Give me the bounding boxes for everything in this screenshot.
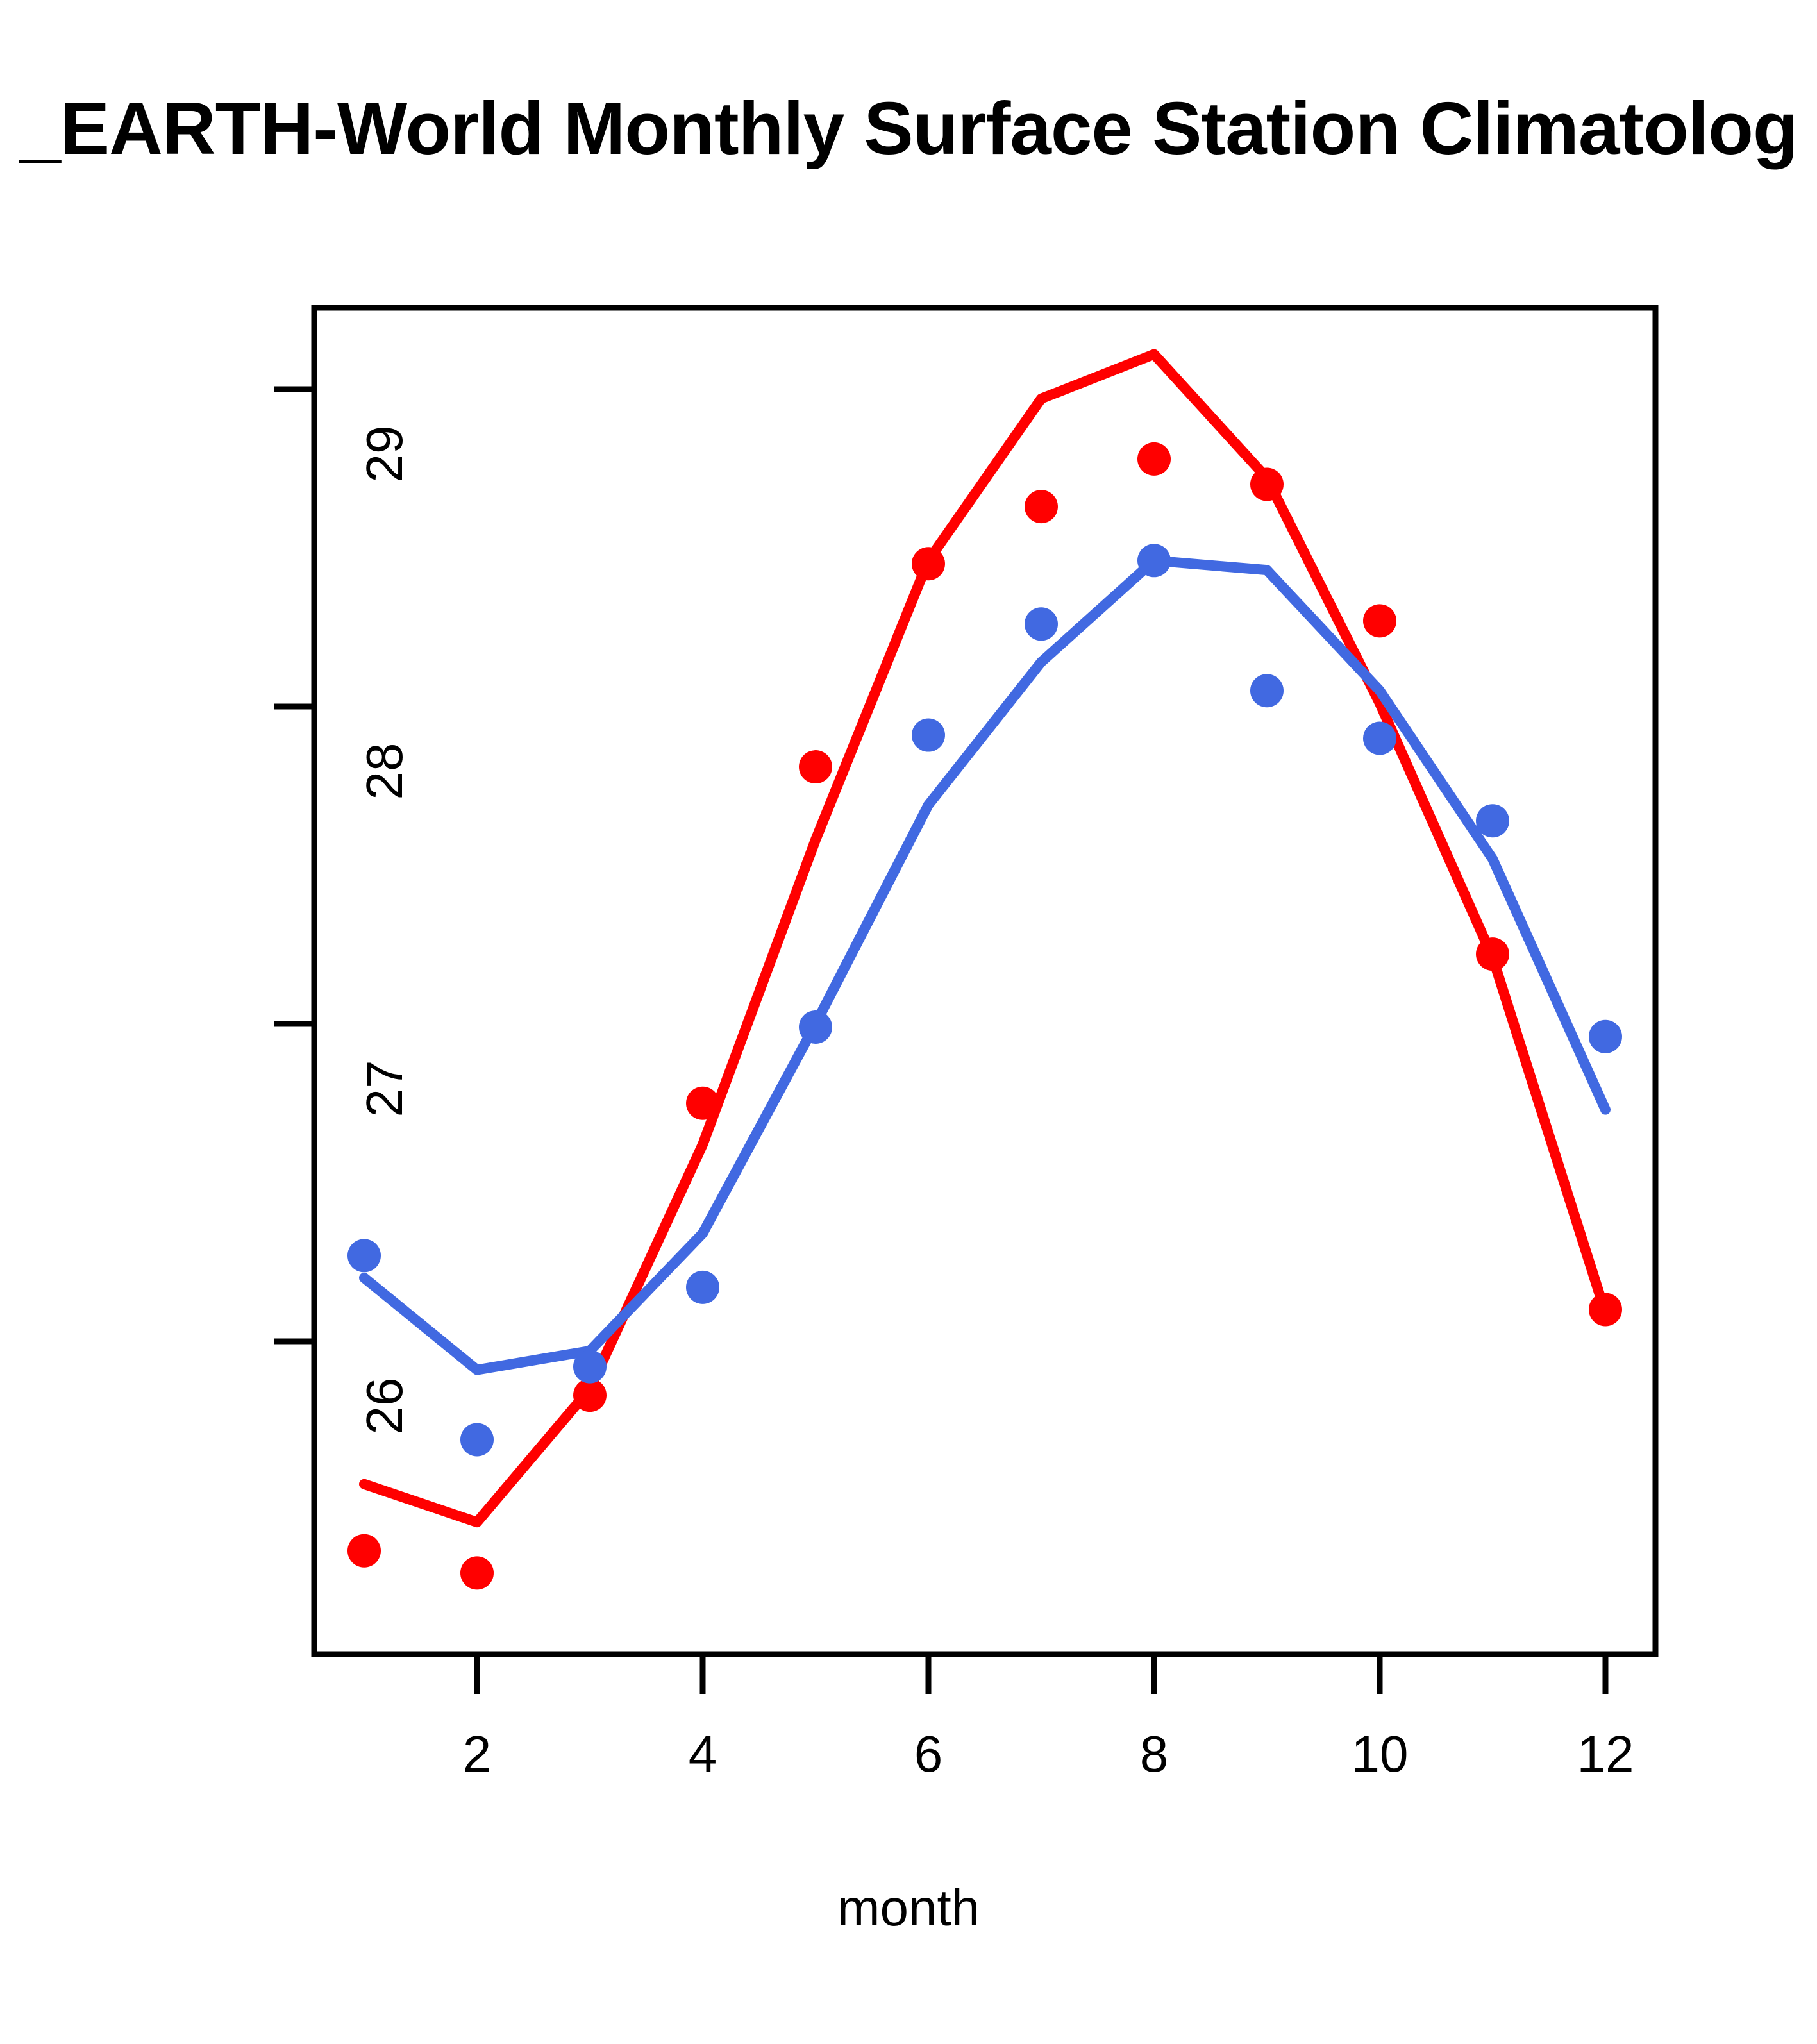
data-point <box>1589 1293 1622 1327</box>
y-tick-label: 27 <box>355 1025 414 1153</box>
data-point <box>1589 1020 1622 1053</box>
y-tick-label: 28 <box>355 707 414 835</box>
series-lines-group <box>364 355 1605 1523</box>
series-line-red-series-line <box>364 355 1605 1523</box>
data-point <box>686 1087 719 1120</box>
data-point <box>1363 604 1396 637</box>
data-point <box>1250 468 1284 501</box>
data-point <box>686 1271 719 1304</box>
series-line-blue-series-line <box>364 560 1605 1370</box>
data-point <box>1476 937 1509 971</box>
x-axis-title: month <box>0 1879 1817 1938</box>
data-point <box>1137 544 1171 577</box>
data-point <box>347 1534 381 1568</box>
data-point <box>1476 804 1509 837</box>
x-tick-label: 12 <box>1577 1725 1634 1784</box>
x-tick-label: 2 <box>463 1725 492 1784</box>
data-point <box>912 547 945 580</box>
data-point <box>912 719 945 752</box>
data-point <box>1363 722 1396 755</box>
data-point <box>799 1010 832 1044</box>
data-point <box>460 1423 494 1456</box>
x-tick-label: 6 <box>914 1725 943 1784</box>
figure-canvas: _EARTH-World Monthly Surface Station Cli… <box>0 0 1817 2044</box>
data-point <box>1137 442 1171 476</box>
data-point <box>799 750 832 783</box>
plot-frame <box>314 308 1655 1654</box>
x-tick-label: 4 <box>689 1725 717 1784</box>
y-tick-label: 26 <box>355 1342 414 1470</box>
data-point <box>1025 490 1058 523</box>
data-point <box>460 1556 494 1589</box>
data-point <box>1025 607 1058 641</box>
x-tick-label: 8 <box>1140 1725 1169 1784</box>
series-points-group <box>347 442 1622 1589</box>
data-point <box>1250 674 1284 707</box>
y-tick-label: 29 <box>355 390 414 518</box>
plot-area <box>0 0 1817 2044</box>
x-tick-label: 10 <box>1352 1725 1409 1784</box>
data-point <box>573 1378 607 1412</box>
data-point <box>573 1350 607 1384</box>
data-point <box>347 1239 381 1272</box>
x-axis-ticks <box>477 1654 1605 1694</box>
y-axis-ticks <box>274 389 314 1341</box>
